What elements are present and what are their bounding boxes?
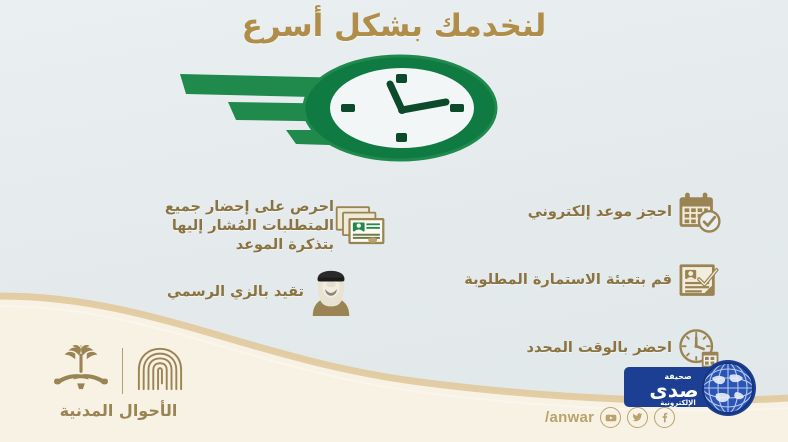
page-title: لنخدمك بشكل أسرع — [0, 8, 788, 44]
calendar-check-icon — [672, 186, 726, 240]
steps-left-column: احرص على إحضار جميع المتطلبات المُشار إل… — [88, 198, 388, 329]
step-fill-form[interactable]: قم بتعبئة الاستمارة المطلوبة — [436, 254, 726, 308]
step-bring-requirements[interactable]: احرص على إحضار جميع المتطلبات المُشار إل… — [88, 198, 388, 255]
palm-swords-emblem-icon — [52, 345, 110, 397]
person-formal-dress-icon — [304, 265, 358, 319]
step-label: احرص على إحضار جميع المتطلبات المُشار إل… — [151, 198, 334, 255]
form-check-icon — [672, 254, 726, 308]
step-label: تقيد بالزي الرسمي — [153, 283, 304, 302]
step-label: قم بتعبئة الاستمارة المطلوبة — [450, 271, 672, 290]
svg-text:الإلكترونية: الإلكترونية — [660, 399, 696, 407]
brand-divider — [122, 348, 123, 394]
social-handle[interactable]: /anwar — [545, 409, 594, 426]
id-cards-stack-icon — [334, 200, 388, 254]
brand-logo: الأحوال المدنية — [52, 345, 185, 420]
sada-watermark: صحيفة صدى الإلكترونية — [624, 358, 766, 420]
youtube-icon[interactable] — [600, 407, 621, 428]
step-label: احجز موعد إلكتروني — [514, 203, 672, 222]
step-dress-code[interactable]: تقيد بالزي الرسمي — [88, 265, 358, 319]
brand-name: الأحوال المدنية — [60, 401, 178, 420]
brand-marks — [52, 345, 185, 397]
infographic-canvas: لنخدمك بشكل أسرع — [0, 0, 788, 442]
speeding-clock-icon — [178, 52, 508, 170]
step-label: احضر بالوقت المحدد — [513, 339, 673, 358]
fingerprint-icon — [135, 345, 185, 397]
globe-icon — [700, 360, 756, 416]
step-book-appointment[interactable]: احجز موعد إلكتروني — [436, 186, 726, 240]
